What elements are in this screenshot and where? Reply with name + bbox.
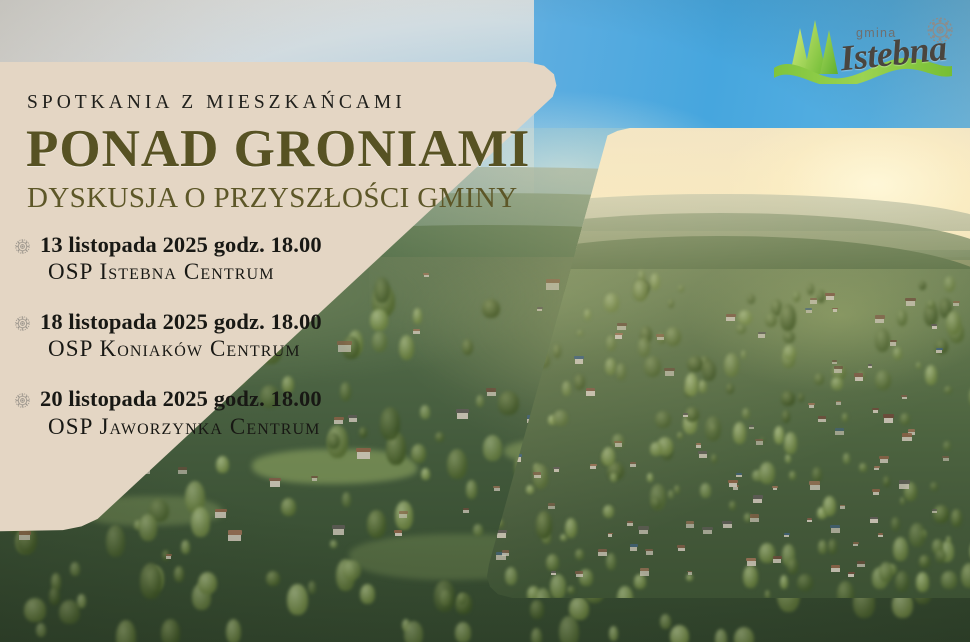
tree-clump [616, 363, 627, 380]
tree-clump [782, 410, 791, 423]
lace-rosette-icon [14, 238, 31, 255]
house [880, 456, 889, 463]
tree-clump [780, 575, 789, 590]
house [806, 308, 812, 313]
tree-clump [650, 442, 662, 455]
tree-clump [859, 463, 867, 471]
house [906, 298, 915, 305]
tree-clump [935, 549, 946, 563]
house [853, 542, 858, 546]
tree-clump [685, 373, 698, 395]
house [857, 561, 864, 567]
event-place: OSP Koniaków Centrum [40, 335, 490, 362]
tree-clump [765, 313, 776, 328]
event-place: OSP Jaworzynka Centrum [40, 413, 490, 440]
tree-clump [650, 273, 660, 290]
tree-clump [783, 331, 795, 343]
tree-clump [687, 356, 703, 373]
tree-clump [742, 408, 750, 419]
house [874, 466, 879, 470]
house [723, 521, 732, 528]
tree-clump [780, 304, 796, 331]
house [832, 360, 837, 364]
tree-clump [567, 586, 575, 594]
house [617, 323, 626, 330]
tree-clump [634, 574, 647, 588]
tree-clump [674, 485, 680, 494]
tree-clump [686, 574, 693, 581]
tree-clump [638, 337, 650, 357]
tree-clump [812, 467, 822, 482]
tree-clump [961, 563, 970, 588]
tree-clump [930, 482, 938, 491]
tree-clump [951, 509, 962, 527]
tree-clump [605, 358, 616, 375]
event-date: 20 listopada 2025 godz. 18.00 [40, 386, 490, 412]
house [810, 481, 820, 489]
tree-clump [647, 473, 654, 482]
tree-clump [784, 432, 798, 453]
house [598, 549, 606, 556]
tree-clump [715, 629, 727, 642]
house [836, 401, 841, 405]
house [665, 368, 675, 376]
house [678, 545, 685, 551]
house [873, 489, 880, 494]
tree-clump [837, 581, 853, 598]
tree-clump [814, 373, 824, 386]
tree-clump [603, 505, 614, 518]
tree-clump [574, 374, 586, 391]
tree-clump [734, 627, 754, 642]
tree-clump [736, 324, 746, 335]
tree-clump [946, 311, 961, 335]
tree-clump [893, 537, 908, 561]
tree-clump [670, 625, 689, 642]
house [834, 366, 842, 373]
tree-clump [783, 345, 796, 359]
house [696, 443, 701, 447]
house [870, 517, 878, 523]
house [630, 462, 636, 466]
tree-clump [609, 626, 619, 641]
tree-clump [919, 555, 929, 567]
tree-clump [741, 350, 746, 359]
tree-clump [797, 574, 813, 592]
tree-clump [606, 553, 616, 570]
house [831, 565, 839, 572]
house [640, 568, 648, 575]
house [756, 439, 763, 445]
page-title: PONAD GRONIAMI [26, 123, 530, 176]
tree-clump [818, 540, 827, 554]
tree-clump [698, 380, 707, 393]
house [868, 364, 872, 367]
tree-clump [774, 426, 784, 444]
house [873, 408, 879, 413]
tree-clump [644, 356, 661, 378]
tree-clump [559, 616, 578, 642]
house [818, 416, 825, 422]
tree-clump [726, 383, 734, 394]
tree-clump [604, 293, 619, 312]
tree-clump [789, 471, 796, 480]
house [575, 356, 584, 363]
tree-clump [651, 497, 661, 509]
house [586, 388, 595, 395]
tree-clump [743, 565, 757, 588]
tree-clump [883, 476, 890, 488]
tree-clump [941, 571, 957, 588]
tree-clump [933, 505, 949, 523]
tree-clump [617, 586, 633, 598]
house [576, 571, 583, 577]
house [750, 514, 759, 521]
tree-clump [700, 483, 711, 498]
house [884, 414, 894, 422]
tree-clump [677, 432, 683, 439]
house [773, 556, 781, 562]
house [848, 572, 854, 577]
house [758, 332, 765, 337]
house [840, 505, 845, 509]
tree-clump [678, 285, 685, 293]
tree-clump [634, 281, 647, 302]
tree-clump [602, 447, 614, 466]
event-date: 18 listopada 2025 godz. 18.00 [40, 309, 490, 335]
tree-clump [584, 309, 591, 320]
house [833, 308, 838, 312]
house [943, 456, 949, 461]
event-list: 13 listopada 2025 godz. 18.00 OSP Istebn… [10, 232, 490, 440]
house [608, 533, 612, 536]
house [936, 348, 942, 353]
subtitle: DYSKUSJA O PRZYSZŁOŚCI GMINY [27, 184, 518, 213]
house [657, 334, 664, 340]
tree-clump [900, 497, 905, 504]
tree-clump [891, 517, 900, 531]
tree-clump [793, 291, 800, 302]
tree-clump [798, 393, 804, 402]
tree-clump [875, 370, 891, 391]
house [807, 518, 812, 522]
tree-clump [875, 328, 890, 352]
tree-clump [660, 614, 671, 629]
house [902, 395, 907, 399]
house [890, 340, 896, 345]
house [932, 509, 937, 513]
house [899, 480, 909, 488]
house [627, 521, 632, 525]
house [590, 464, 596, 469]
tree-clump [724, 353, 739, 378]
house [683, 413, 688, 417]
eyebrow-text: SPOTKANIA Z MIESZKAŃCAMI [27, 92, 406, 114]
tree-clump [781, 391, 794, 406]
event-place: OSP Istebna Centrum [40, 258, 490, 285]
tree-clump [610, 473, 617, 482]
tree-clump [879, 562, 893, 582]
house [784, 533, 789, 537]
house [878, 533, 883, 537]
house [809, 403, 815, 408]
tree-clump [916, 572, 929, 592]
tree-clump [944, 386, 952, 395]
tree-clump [765, 590, 770, 598]
tree-clump [733, 422, 746, 444]
tree-clump [823, 496, 836, 516]
tree-clump [705, 416, 721, 440]
house [699, 451, 707, 458]
tree-clump [665, 327, 681, 346]
house [831, 525, 840, 532]
list-item: 18 listopada 2025 godz. 18.00 OSP Koniak… [10, 309, 490, 362]
tree-clump [895, 571, 909, 593]
house [646, 549, 653, 554]
tree-clump [828, 539, 838, 554]
tree-clump [668, 299, 674, 308]
lace-rosette-icon [14, 315, 31, 332]
tree-clump [916, 362, 921, 369]
house [749, 425, 753, 429]
house [773, 486, 778, 490]
tree-clump [900, 413, 909, 425]
house [630, 544, 637, 550]
tree-clump [831, 377, 842, 390]
tree-clump [655, 411, 671, 428]
tree-clump [785, 454, 791, 463]
tree-clump [747, 294, 755, 304]
list-item: 13 listopada 2025 godz. 18.00 OSP Istebn… [10, 232, 490, 285]
text-content: SPOTKANIA Z MIESZKAŃCAMI PONAD GRONIAMI … [0, 0, 560, 642]
event-date: 13 listopada 2025 godz. 18.00 [40, 232, 490, 258]
tree-clump [893, 347, 903, 360]
tree-clump [577, 330, 583, 336]
tree-clump [807, 283, 814, 295]
tree-clump [897, 309, 907, 325]
tree-clump [565, 518, 577, 539]
house [902, 433, 912, 441]
tree-clump [817, 290, 824, 302]
tree-clump [738, 310, 752, 325]
tree-clump [729, 501, 736, 510]
tree-clump [909, 523, 925, 547]
logo[interactable]: gmina Istebna [768, 8, 956, 84]
house [736, 473, 742, 478]
house [639, 526, 648, 533]
tree-clump [843, 453, 850, 464]
house [932, 324, 937, 328]
tree-clump [702, 360, 716, 381]
tree-clump [575, 549, 584, 560]
house [688, 571, 693, 575]
tree-clump [919, 281, 926, 291]
house [855, 373, 863, 380]
house [875, 315, 884, 322]
house [810, 298, 817, 303]
house [953, 301, 959, 306]
house [747, 558, 756, 565]
tree-clump [562, 381, 571, 396]
house [726, 314, 735, 321]
tree-clump [943, 441, 951, 452]
tree-clump [927, 300, 935, 310]
tree-clump [668, 490, 674, 499]
tree-clump [842, 413, 847, 421]
tree-clump [925, 365, 938, 386]
house [615, 441, 622, 447]
house [686, 521, 693, 527]
house [729, 480, 738, 487]
list-item: 20 listopada 2025 godz. 18.00 OSP Jaworz… [10, 386, 490, 439]
house [703, 527, 712, 534]
house [835, 428, 843, 435]
tree-clump [759, 462, 775, 484]
tree-clump [711, 454, 717, 463]
lace-rosette-icon [14, 392, 31, 409]
tree-clump [944, 276, 955, 292]
house [826, 293, 835, 300]
poster: SPOTKANIA Z MIESZKAŃCAMI PONAD GRONIAMI … [0, 0, 970, 642]
house [753, 495, 762, 502]
house [615, 333, 622, 339]
tree-clump [787, 558, 798, 574]
